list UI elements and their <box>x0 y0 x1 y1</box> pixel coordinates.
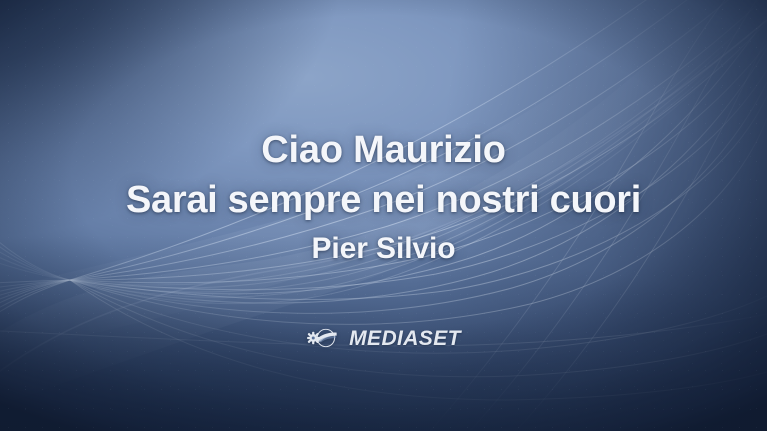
tribute-card-screen: Ciao Maurizio Sarai sempre nei nostri cu… <box>0 0 767 431</box>
mediaset-gear-swoosh-icon <box>306 326 342 350</box>
caption-line-greeting: Ciao Maurizio <box>0 126 767 174</box>
mediaset-wordmark: MEDIASET <box>349 328 461 349</box>
caption-line-signature: Pier Silvio <box>0 226 767 272</box>
caption-line-message: Sarai sempre nei nostri cuori <box>0 174 767 226</box>
tribute-caption: Ciao Maurizio Sarai sempre nei nostri cu… <box>0 126 767 272</box>
mediaset-logo: MEDIASET <box>306 326 461 350</box>
